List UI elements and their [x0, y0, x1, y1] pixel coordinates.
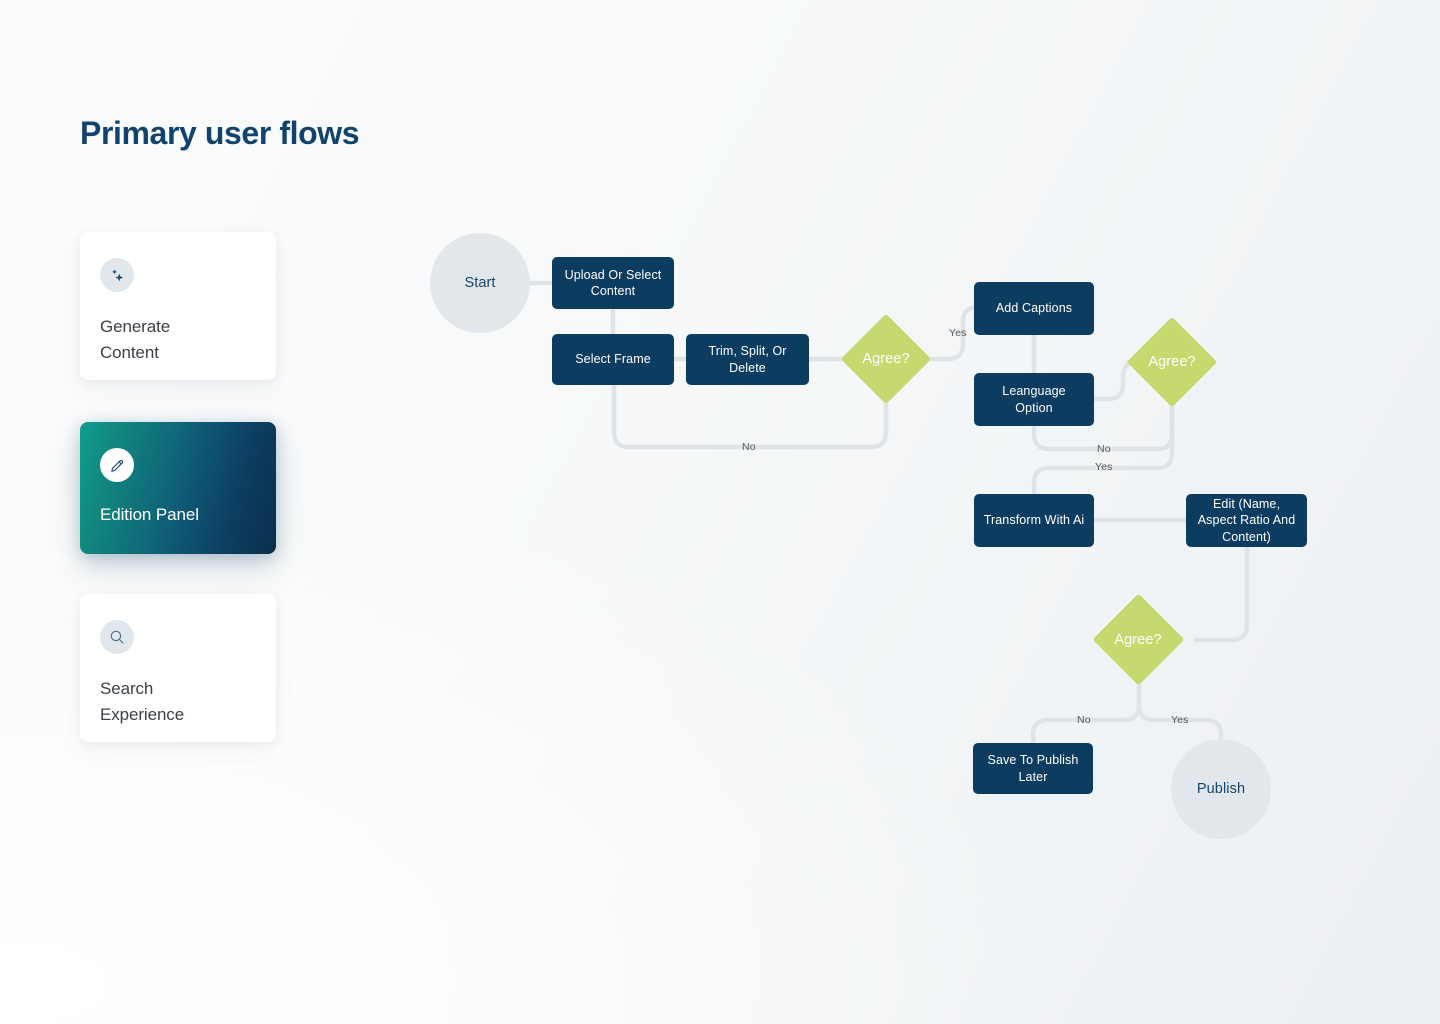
flow-node-label: Publish: [1197, 781, 1245, 797]
edge-label-agree3-yes: Yes: [1171, 714, 1189, 726]
edge-agree1-no-selectframe: [614, 385, 886, 447]
edge-label-agree2-no: No: [1097, 443, 1111, 455]
edge-edit-agree3: [1196, 547, 1247, 640]
flowchart: Yes No No Yes No Yes Start Upload Or Sel…: [0, 0, 1440, 1024]
flow-node-label: Start: [464, 275, 495, 291]
flow-node-label: Edit (Name, Aspect Ratio And Content): [1194, 496, 1299, 546]
edge-label-agree3-no: No: [1077, 714, 1091, 726]
flow-node-transform-with-ai[interactable]: Transform With Ai: [974, 494, 1094, 547]
flow-node-save-to-publish-later[interactable]: Save To Publish Later: [973, 743, 1093, 794]
flow-node-label: Upload Or Select Content: [560, 267, 666, 300]
flow-node-label: Leanguage Option: [982, 383, 1086, 416]
canvas: Primary user flows Generate Content Edit…: [0, 0, 1440, 1024]
flow-node-publish[interactable]: Publish: [1171, 739, 1271, 839]
flow-node-upload-or-select-content[interactable]: Upload Or Select Content: [552, 257, 674, 309]
flow-node-leanguage-option[interactable]: Leanguage Option: [974, 373, 1094, 426]
flow-node-label: Save To Publish Later: [981, 752, 1085, 785]
flow-node-add-captions[interactable]: Add Captions: [974, 282, 1094, 335]
flow-node-label: Add Captions: [996, 300, 1072, 317]
flow-node-label: Transform With Ai: [984, 512, 1085, 529]
flow-node-select-frame[interactable]: Select Frame: [552, 334, 674, 385]
flow-node-start[interactable]: Start: [430, 233, 530, 333]
edge-label-agree2-yes: Yes: [1095, 461, 1113, 473]
edge-label-agree1-yes: Yes: [949, 327, 967, 339]
flow-node-label: Trim, Split, Or Delete: [694, 343, 801, 376]
edge-label-agree1-no: No: [742, 441, 756, 453]
flow-node-trim-split-or-delete[interactable]: Trim, Split, Or Delete: [686, 334, 809, 385]
flow-node-label: Select Frame: [575, 351, 651, 368]
flow-node-edit-name-aspect-ratio-and-content[interactable]: Edit (Name, Aspect Ratio And Content): [1186, 494, 1307, 547]
